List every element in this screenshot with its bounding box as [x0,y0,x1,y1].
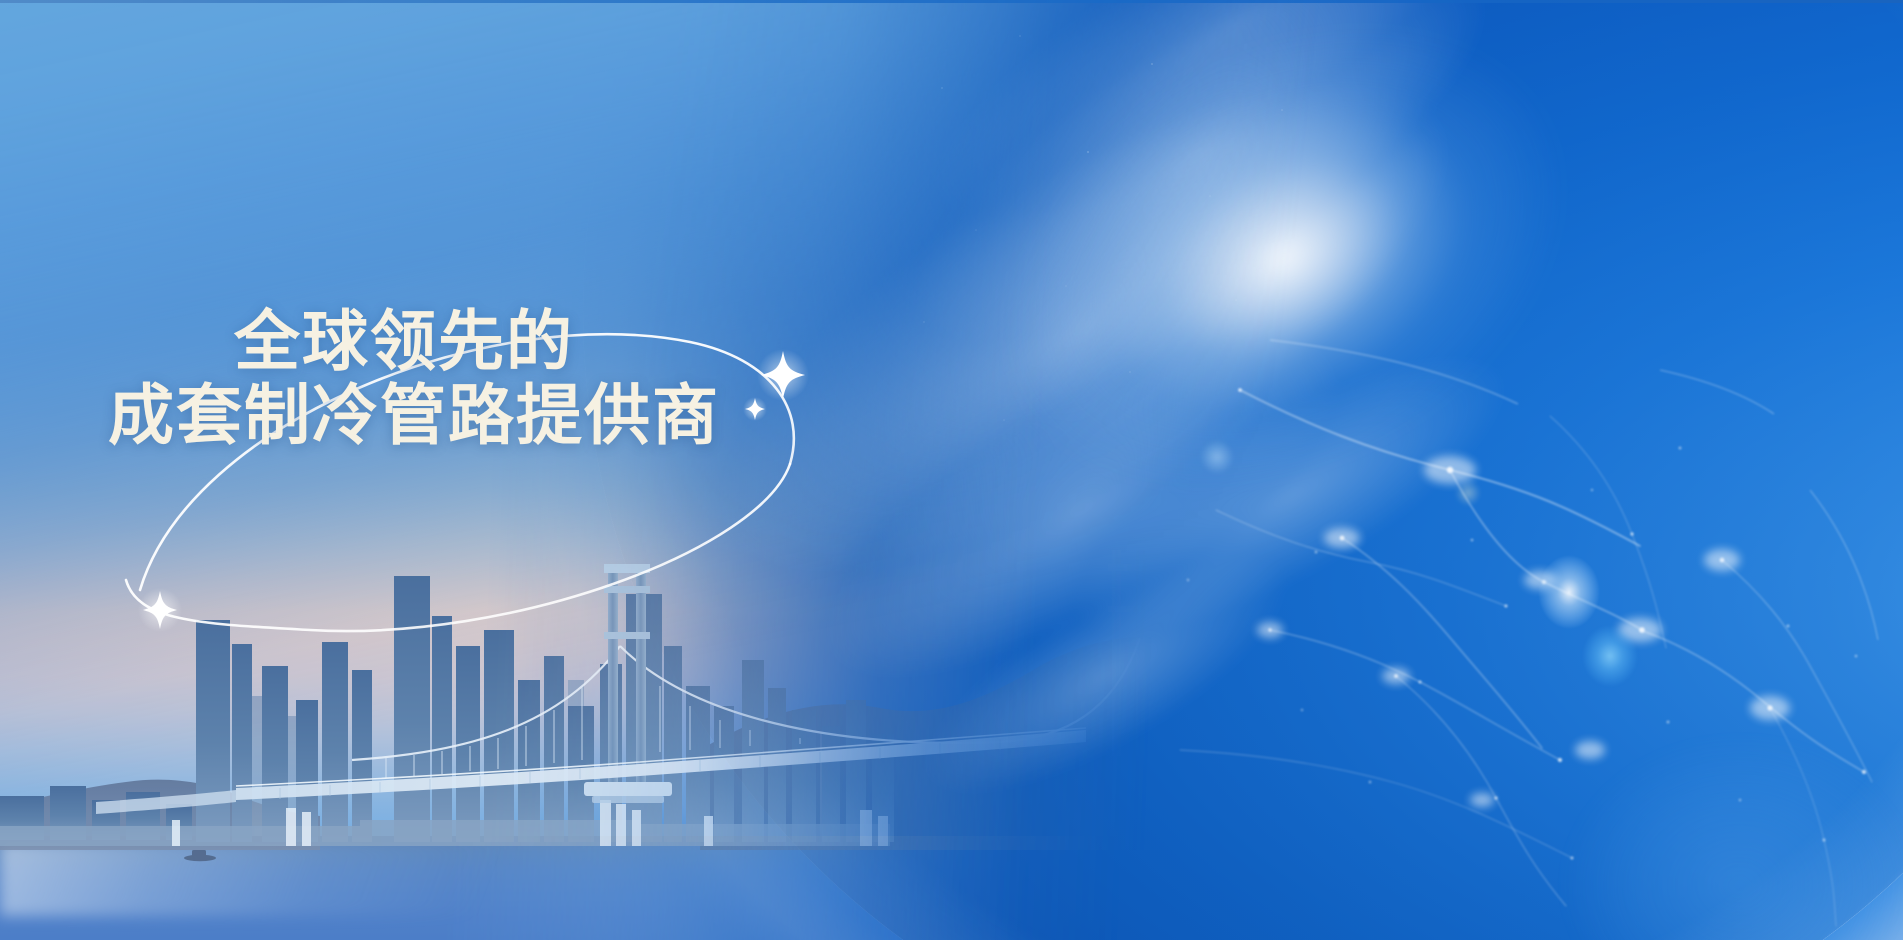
headline-line-1: 全球领先的 [234,304,868,378]
headline-line-2: 成套制冷管路提供商 [108,378,868,452]
top-edge-divider [0,0,1903,3]
page-title: 全球领先的 成套制冷管路提供商 [108,304,868,452]
hero-banner: 全球领先的 成套制冷管路提供商 [0,0,1903,940]
harbor-city-skyline-photo [0,520,1180,900]
